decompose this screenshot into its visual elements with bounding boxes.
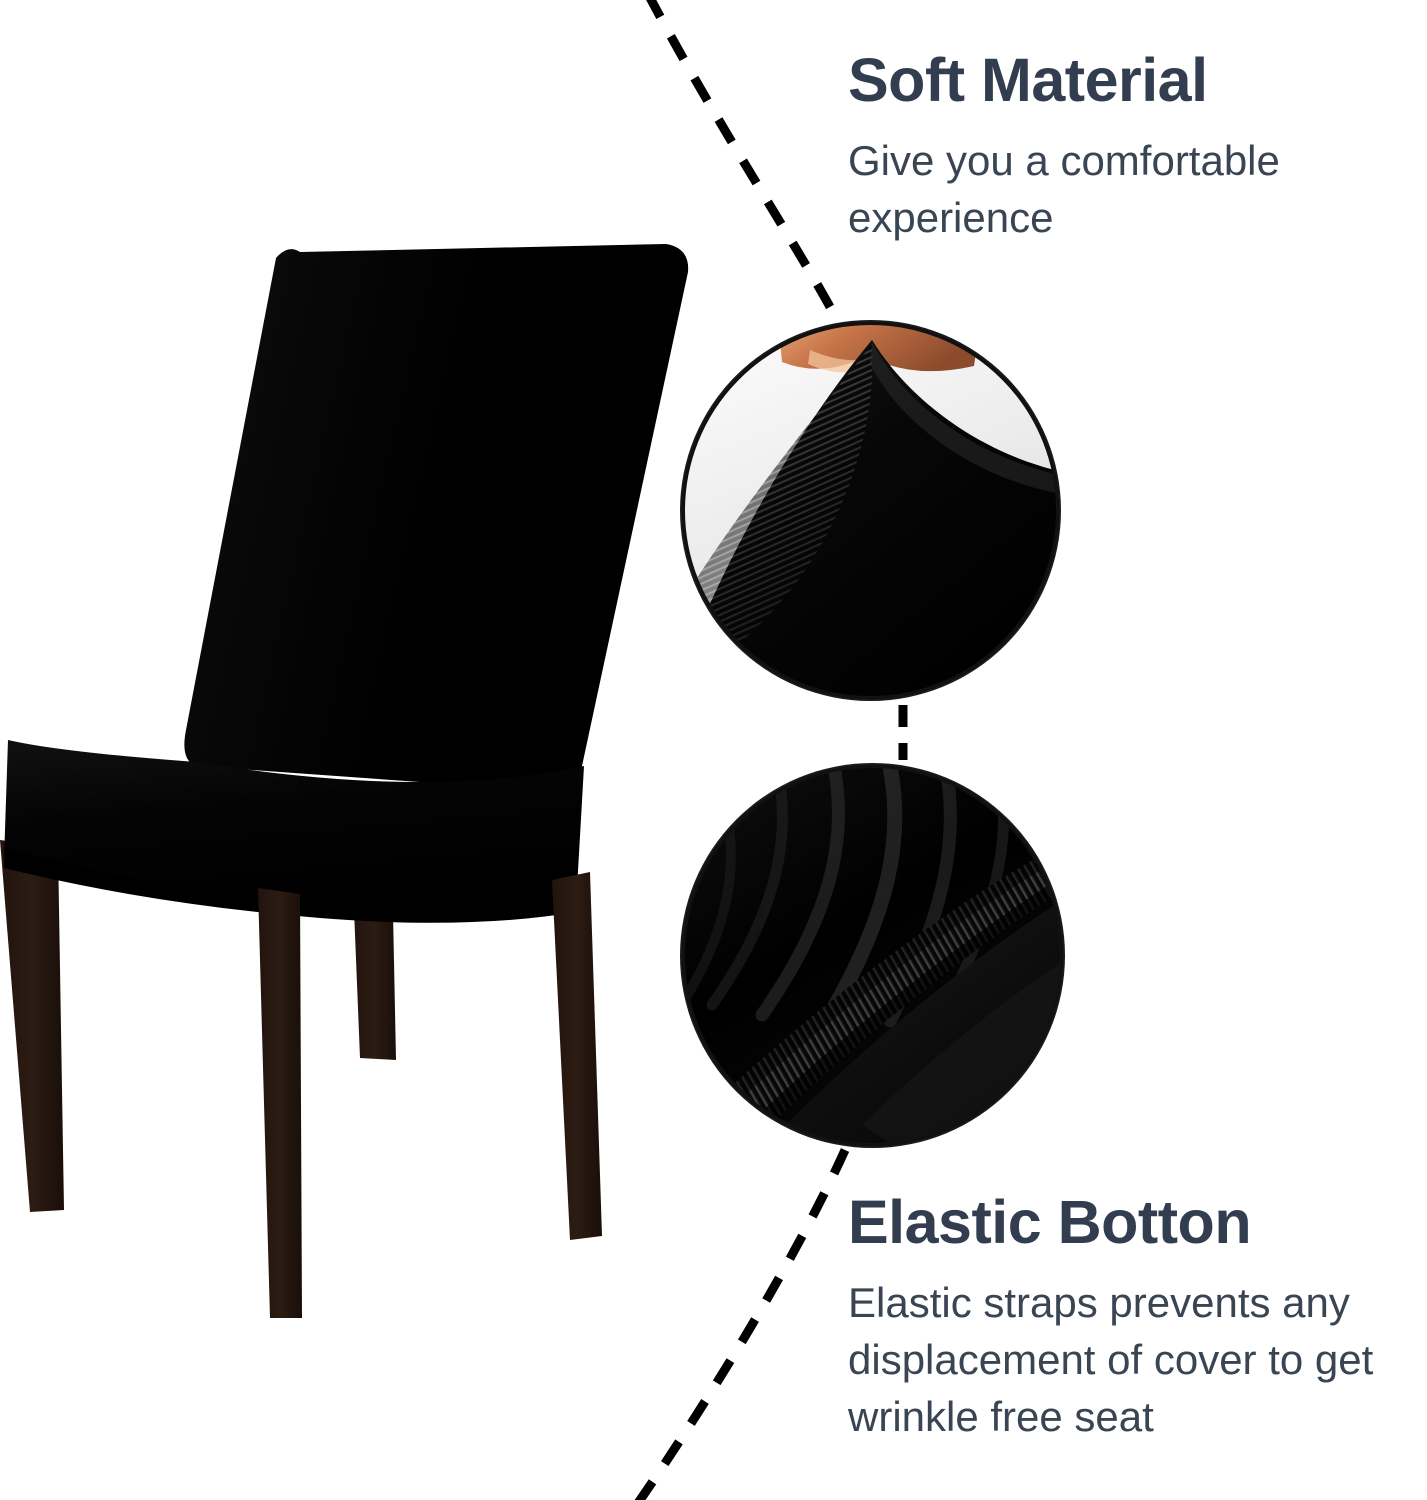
chair-back-cover — [184, 244, 688, 792]
feature-description-soft-material: Give you a comfortable experience — [848, 116, 1388, 246]
feature-description-elastic-botton: Elastic straps prevents any displacement… — [848, 1258, 1388, 1445]
feature-title-elastic-botton: Elastic Botton — [848, 1186, 1388, 1258]
feature-block-elastic-botton: Elastic Botton Elastic straps prevents a… — [848, 1186, 1388, 1445]
infographic-page: Soft Material Give you a comfortable exp… — [0, 0, 1427, 1500]
product-photo-chair — [0, 200, 720, 1340]
feature-block-soft-material: Soft Material Give you a comfortable exp… — [848, 44, 1388, 246]
fabric-weave-closeup-image — [682, 322, 1059, 699]
chair-legs-front — [258, 872, 602, 1318]
chair-illustration — [0, 200, 720, 1340]
callout-circle-soft-material — [682, 322, 1059, 699]
callout-circle-elastic-botton — [682, 765, 1063, 1146]
elastic-hem-closeup-image — [682, 765, 1063, 1146]
feature-title-soft-material: Soft Material — [848, 44, 1388, 116]
